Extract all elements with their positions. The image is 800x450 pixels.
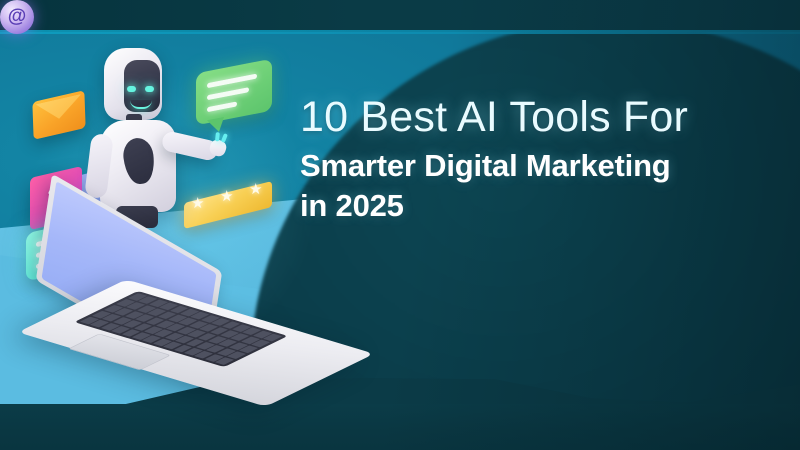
robot-eye-left-icon [127, 86, 136, 92]
hero-illustration: @ ? [0, 0, 330, 400]
robot-head [104, 48, 162, 120]
robot-finger [221, 133, 228, 143]
headline-line-2: Smarter Digital Marketing [300, 147, 780, 185]
promo-banner: @ ? [0, 0, 800, 450]
at-sign-icon: @ [0, 0, 34, 34]
headline-line-1: 10 Best AI Tools For [300, 92, 780, 142]
email-envelope-icon [32, 90, 85, 140]
robot-finger [215, 132, 220, 141]
robot-mouth-icon [130, 100, 152, 109]
headline-block: 10 Best AI Tools For Smarter Digital Mar… [300, 92, 780, 225]
headline-line-3: in 2025 [300, 187, 780, 225]
background-bottom-band [0, 404, 800, 450]
envelope-flap-icon [35, 94, 82, 136]
robot-chest-panel [121, 136, 156, 185]
robot-eye-right-icon [145, 86, 154, 92]
robot-faceplate [124, 60, 160, 112]
laptop [44, 218, 344, 398]
